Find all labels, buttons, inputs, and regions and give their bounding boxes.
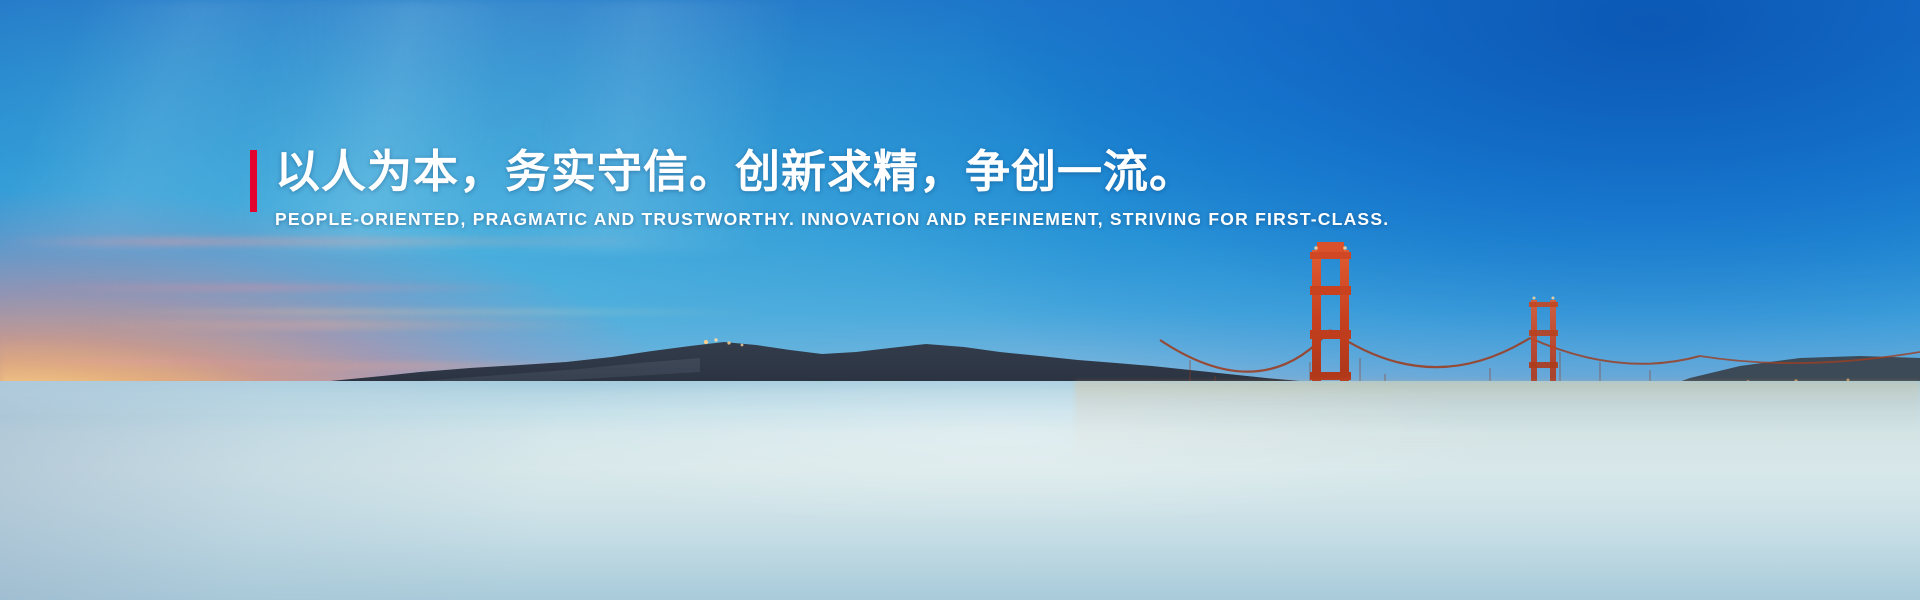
- slogan-text-block: 以人为本，务实守信。创新求精，争创一流。 PEOPLE-ORIENTED, PR…: [275, 146, 1389, 230]
- bridge-cable: [1160, 330, 1330, 372]
- ridge-light: [704, 340, 708, 344]
- ridge-light: [727, 341, 730, 344]
- hero-banner: 以人为本，务实守信。创新求精，争创一流。 PEOPLE-ORIENTED, PR…: [0, 0, 1920, 600]
- headline-chinese: 以人为本，务实守信。创新求精，争创一流。: [275, 146, 1389, 198]
- subhead-english: PEOPLE-ORIENTED, PRAGMATIC AND TRUSTWORT…: [275, 209, 1389, 230]
- ridge-light: [714, 338, 717, 341]
- accent-bar: [250, 150, 257, 212]
- bridge-tower-south: [1310, 242, 1351, 402]
- ridge-light: [741, 344, 744, 347]
- water-bridge-reflection: [1075, 381, 1920, 600]
- slogan-overlay: 以人为本，务实守信。创新求精，争创一流。 PEOPLE-ORIENTED, PR…: [250, 146, 1389, 230]
